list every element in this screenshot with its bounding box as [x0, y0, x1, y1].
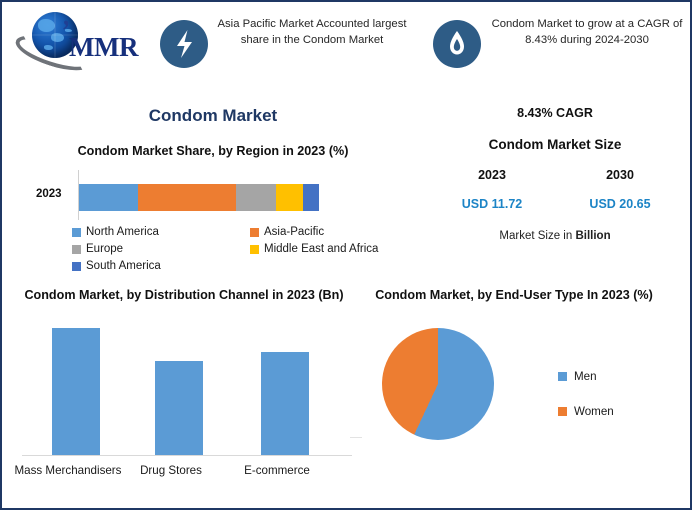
legend-swatch-europe [72, 245, 81, 254]
legend-label-middle-east-africa: Middle East and Africa [264, 243, 378, 255]
legend-label-asia-pacific: Asia-Pacific [264, 226, 324, 238]
flame-icon [433, 20, 481, 68]
logo-wordmark: MMR [69, 32, 138, 63]
distribution-chart-title: Condom Market, by Distribution Channel i… [14, 286, 354, 304]
distribution-bar-drug-stores [155, 361, 203, 455]
year-base-label: 2023 [442, 168, 542, 182]
market-size-label: Condom Market Size [420, 137, 690, 152]
region-segment-europe [236, 184, 276, 211]
legend-item-men: Men [558, 370, 614, 383]
region-chart-legend: North America Asia-Pacific Europe Middle… [62, 226, 408, 276]
market-size-unit-bold: Billion [575, 230, 610, 242]
plot-gridline [350, 437, 362, 438]
region-segment-south-america [303, 184, 319, 211]
legend-label-north-america: North America [86, 226, 159, 238]
market-value-forecast: USD 20.65 [570, 197, 670, 211]
enduser-chart-legend: Men Women [558, 370, 614, 440]
market-size-unit: Market Size in Billion [420, 230, 690, 242]
region-stacked-bar [79, 184, 319, 211]
legend-item-women: Women [558, 405, 614, 418]
enduser-chart-title: Condom Market, by End-User Type In 2023 … [364, 286, 664, 304]
market-size-panel: 8.43% CAGR Condom Market Size 2023 2030 … [420, 102, 690, 252]
distribution-channel-chart: Condom Market, by Distribution Channel i… [14, 286, 354, 504]
enduser-pie [382, 328, 494, 440]
region-segment-asia-pacific [138, 184, 236, 211]
infographic-frame: ’ MMR Asia Pacific Market Accounted larg… [0, 0, 692, 510]
legend-label-europe: Europe [86, 243, 123, 255]
legend-item-south-america: South America [72, 260, 161, 272]
legend-swatch-north-america [72, 228, 81, 237]
legend-item-middle-east-africa: Middle East and Africa [250, 243, 378, 255]
cagr-value: 8.43% CAGR [420, 106, 690, 120]
legend-swatch-south-america [72, 262, 81, 271]
distribution-bar-mass-merchandisers [52, 328, 100, 455]
end-user-type-chart: Condom Market, by End-User Type In 2023 … [350, 286, 690, 504]
page-title: Condom Market [18, 106, 408, 126]
year-forecast-label: 2030 [570, 168, 670, 182]
legend-label-women: Women [574, 405, 614, 418]
legend-label-south-america: South America [86, 260, 161, 272]
distribution-bar-e-commerce [261, 352, 309, 455]
mmr-logo: ’ MMR [14, 10, 144, 68]
distribution-label-e-commerce: E-commerce [222, 462, 332, 479]
distribution-label-mass-merchandisers: Mass Merchandisers [13, 462, 123, 479]
region-share-chart: 2023 [18, 170, 408, 226]
distribution-plot-area [22, 326, 352, 456]
legend-swatch-men [558, 372, 567, 381]
legend-item-europe: Europe [72, 243, 123, 255]
header-bar: ’ MMR Asia Pacific Market Accounted larg… [2, 2, 690, 94]
market-size-unit-prefix: Market Size in [499, 230, 575, 242]
legend-swatch-asia-pacific [250, 228, 259, 237]
market-value-base: USD 11.72 [442, 197, 542, 211]
region-chart-title: Condom Market Share, by Region in 2023 (… [18, 144, 408, 158]
distribution-label-drug-stores: Drug Stores [116, 462, 226, 479]
header-highlight-cagr: Condom Market to grow at a CAGR of 8.43%… [489, 16, 685, 48]
legend-swatch-women [558, 407, 567, 416]
header-highlight-asia-pacific: Asia Pacific Market Accounted largest sh… [214, 16, 410, 48]
region-chart-category-label: 2023 [36, 188, 62, 200]
legend-label-men: Men [574, 370, 597, 383]
legend-item-north-america: North America [72, 226, 159, 238]
legend-swatch-middle-east-africa [250, 245, 259, 254]
region-segment-middle-east-africa [276, 184, 304, 211]
distribution-axis-line [22, 455, 352, 456]
legend-item-asia-pacific: Asia-Pacific [250, 226, 324, 238]
lightning-bolt-icon [160, 20, 208, 68]
region-segment-north-america [79, 184, 138, 211]
